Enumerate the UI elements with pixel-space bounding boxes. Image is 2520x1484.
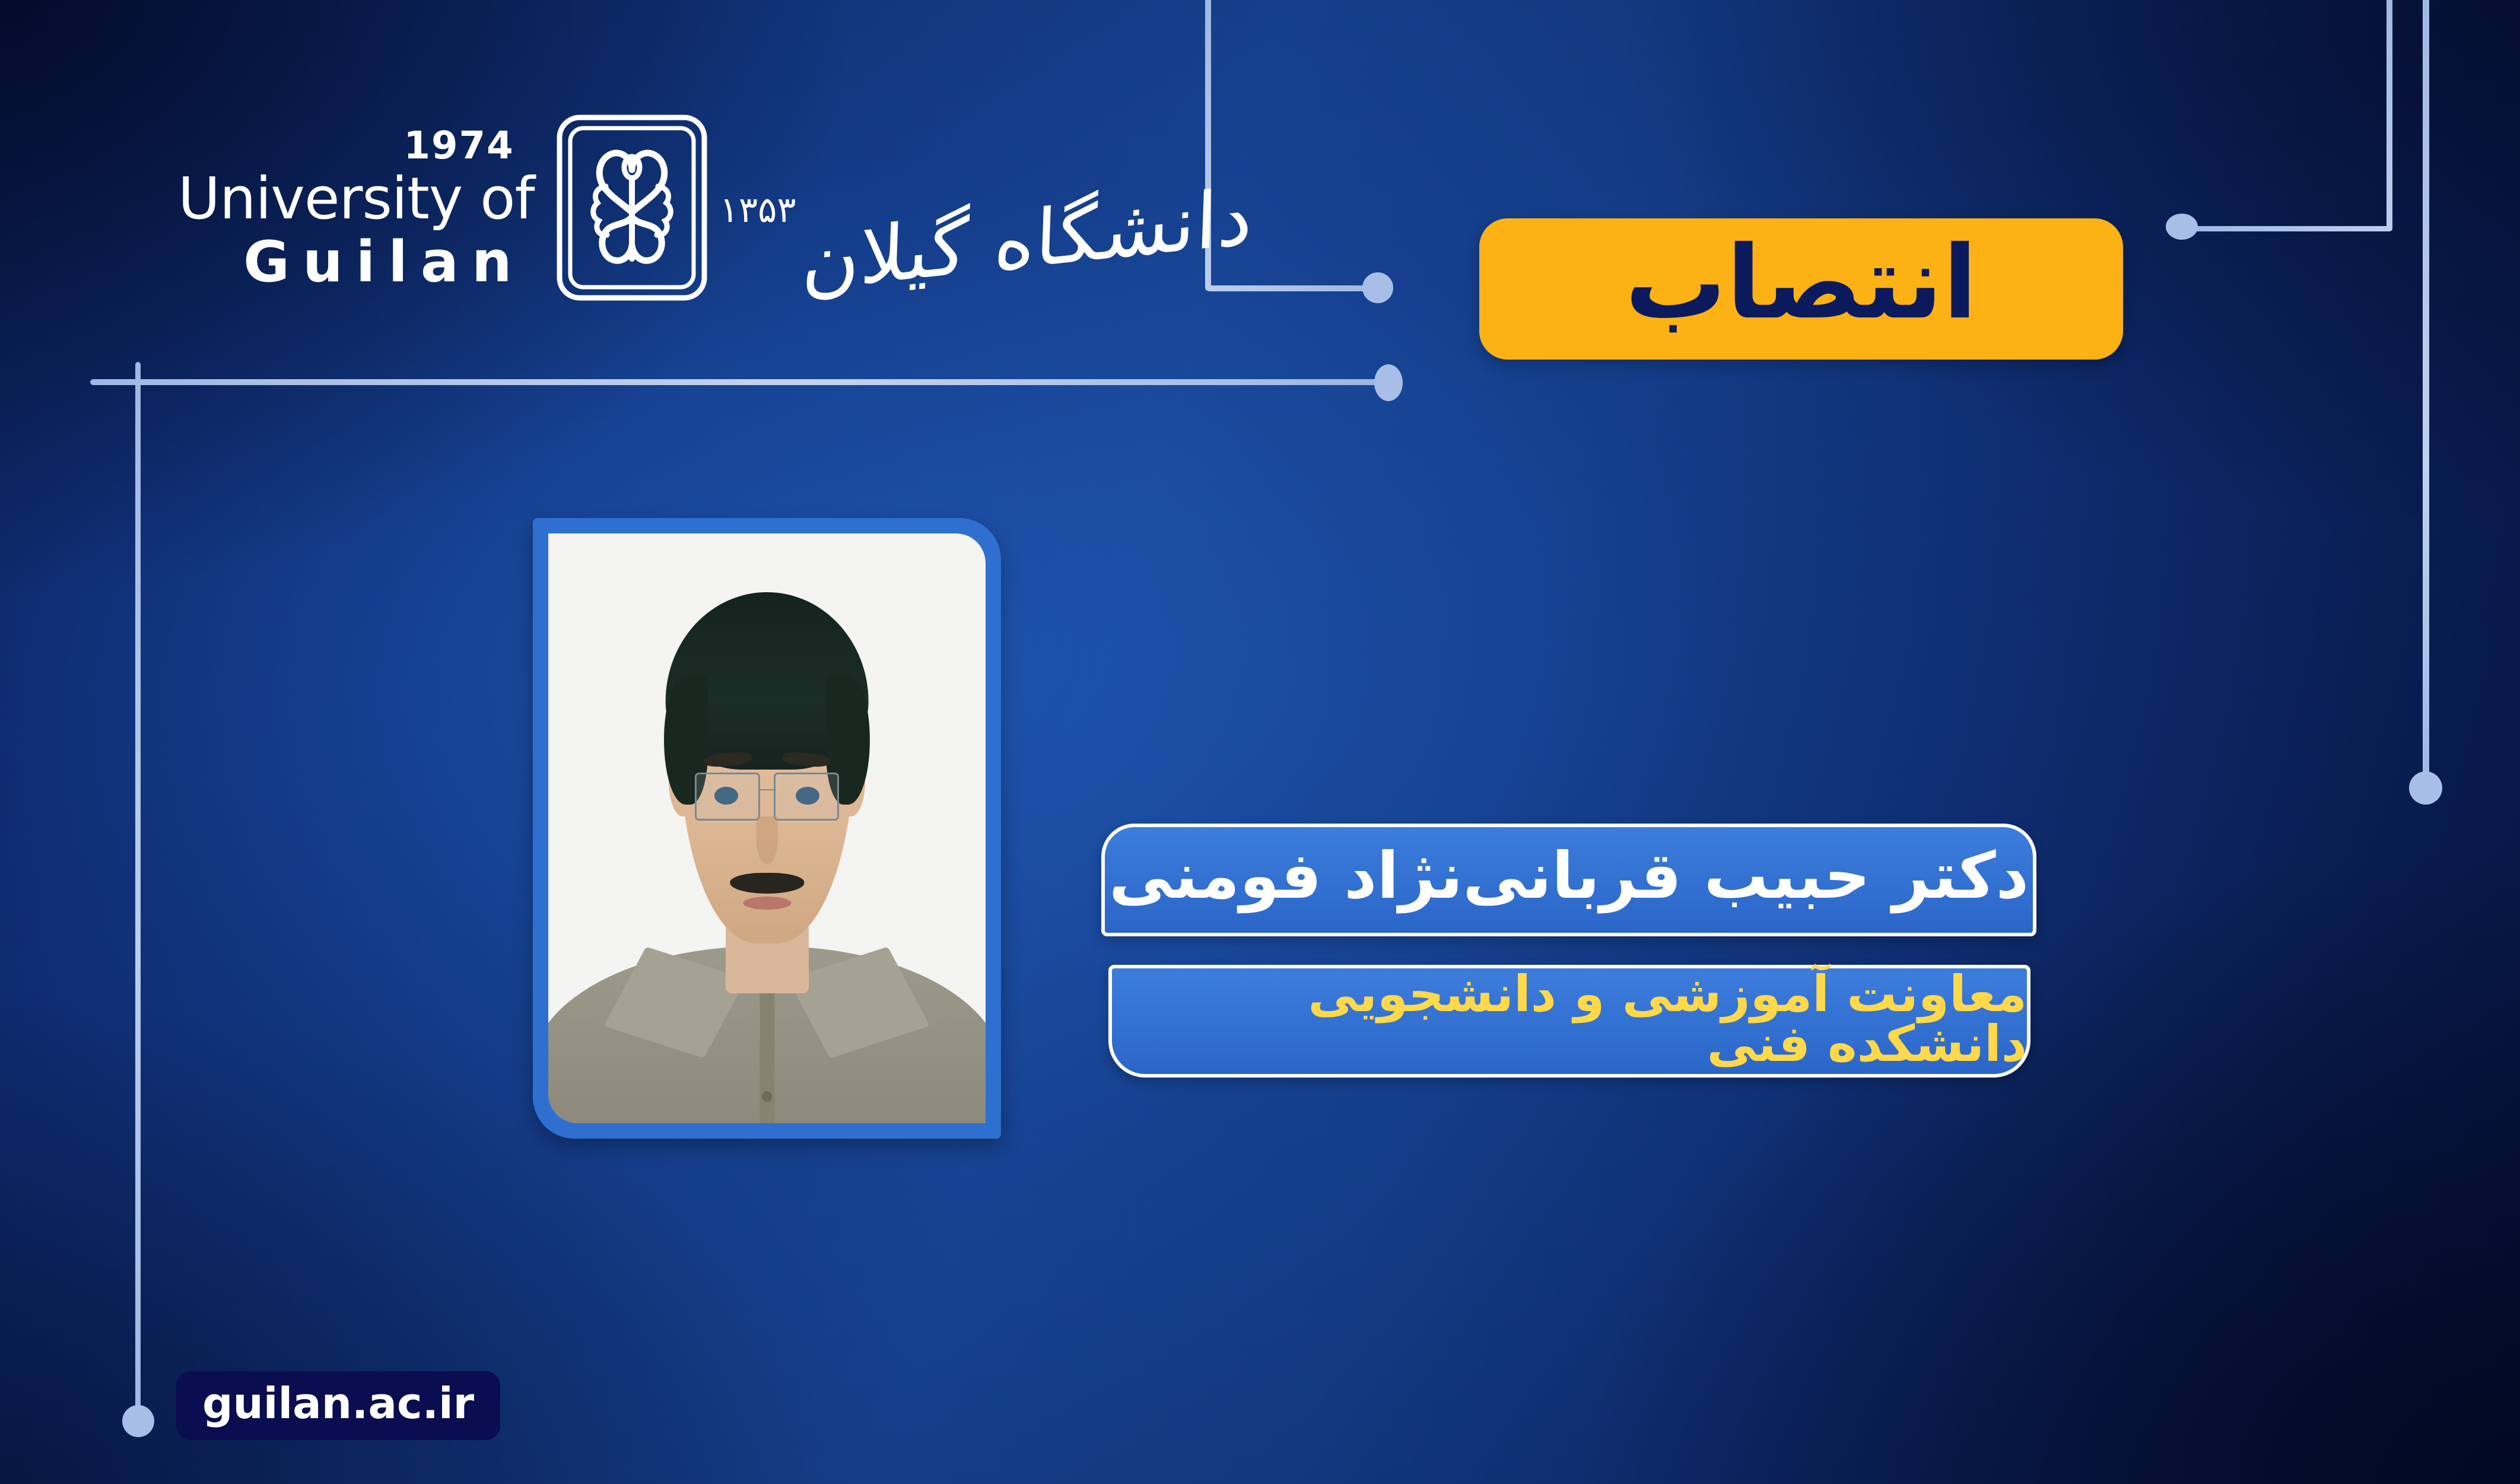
butterfly-emblem-icon (555, 113, 709, 305)
portrait-photo (548, 533, 986, 1123)
decorative-line-right-upper-horizontal (2186, 226, 2391, 231)
logo-line-university: University of (178, 170, 535, 227)
announcement-poster: 1974 University of Guilan ۱۳۵۳ دانشگاه گ… (0, 0, 2520, 1484)
decorative-dot-left-bottom (122, 1405, 154, 1437)
decorative-dot-badge-left (1362, 272, 1393, 303)
website-url-text: guilan.ac.ir (202, 1382, 474, 1425)
appointment-badge-label: انتصاب (1625, 233, 1978, 333)
university-logo: 1974 University of Guilan ۱۳۵۳ دانشگاه گ… (178, 113, 1251, 305)
portrait-eyeglass-bridge (759, 789, 775, 790)
decorative-dot-right-lower (2409, 771, 2442, 805)
portrait-shirt-placket (760, 993, 774, 1123)
logo-name-persian: دانشگاه گیلان (800, 178, 1254, 303)
person-name-banner: دکتر حبیب قربانی‌نژاد فومنی (1101, 824, 2036, 936)
logo-year-english: 1974 (404, 127, 514, 165)
portrait-eyeglass-right (774, 773, 840, 821)
logo-english-block: 1974 University of Guilan (178, 127, 535, 291)
decorative-dot-right-upper (2166, 214, 2198, 240)
decorative-line-right-upper-vertical (2386, 0, 2392, 231)
portrait-frame (533, 518, 1001, 1139)
person-role-banner: معاونت آموزشی و دانشجویی دانشکده فنی (1108, 965, 2030, 1078)
person-role: معاونت آموزشی و دانشجویی دانشکده فنی (1112, 969, 2027, 1069)
portrait-eyeglass-left (695, 773, 761, 821)
website-url-badge[interactable]: guilan.ac.ir (176, 1371, 500, 1440)
portrait-mouth (743, 897, 791, 910)
decorative-line-right-long-vertical (2423, 0, 2429, 777)
decorative-dot-top-right (1374, 364, 1403, 401)
appointment-badge: انتصاب (1479, 218, 2123, 360)
logo-line-guilan: Guilan (243, 234, 525, 291)
portrait-shirt-button (762, 1091, 773, 1102)
decorative-line-left-vertical (135, 362, 141, 1409)
portrait-moustache (730, 873, 804, 894)
logo-year-persian: ۱۳۵۳ (720, 189, 796, 231)
portrait-nose (756, 816, 778, 864)
person-name: دکتر حبیب قربانی‌نژاد فومنی (1109, 844, 2029, 908)
decorative-line-top-horizontal (90, 379, 1393, 385)
logo-persian-block: ۱۳۵۳ دانشگاه گیلان (720, 162, 1251, 256)
